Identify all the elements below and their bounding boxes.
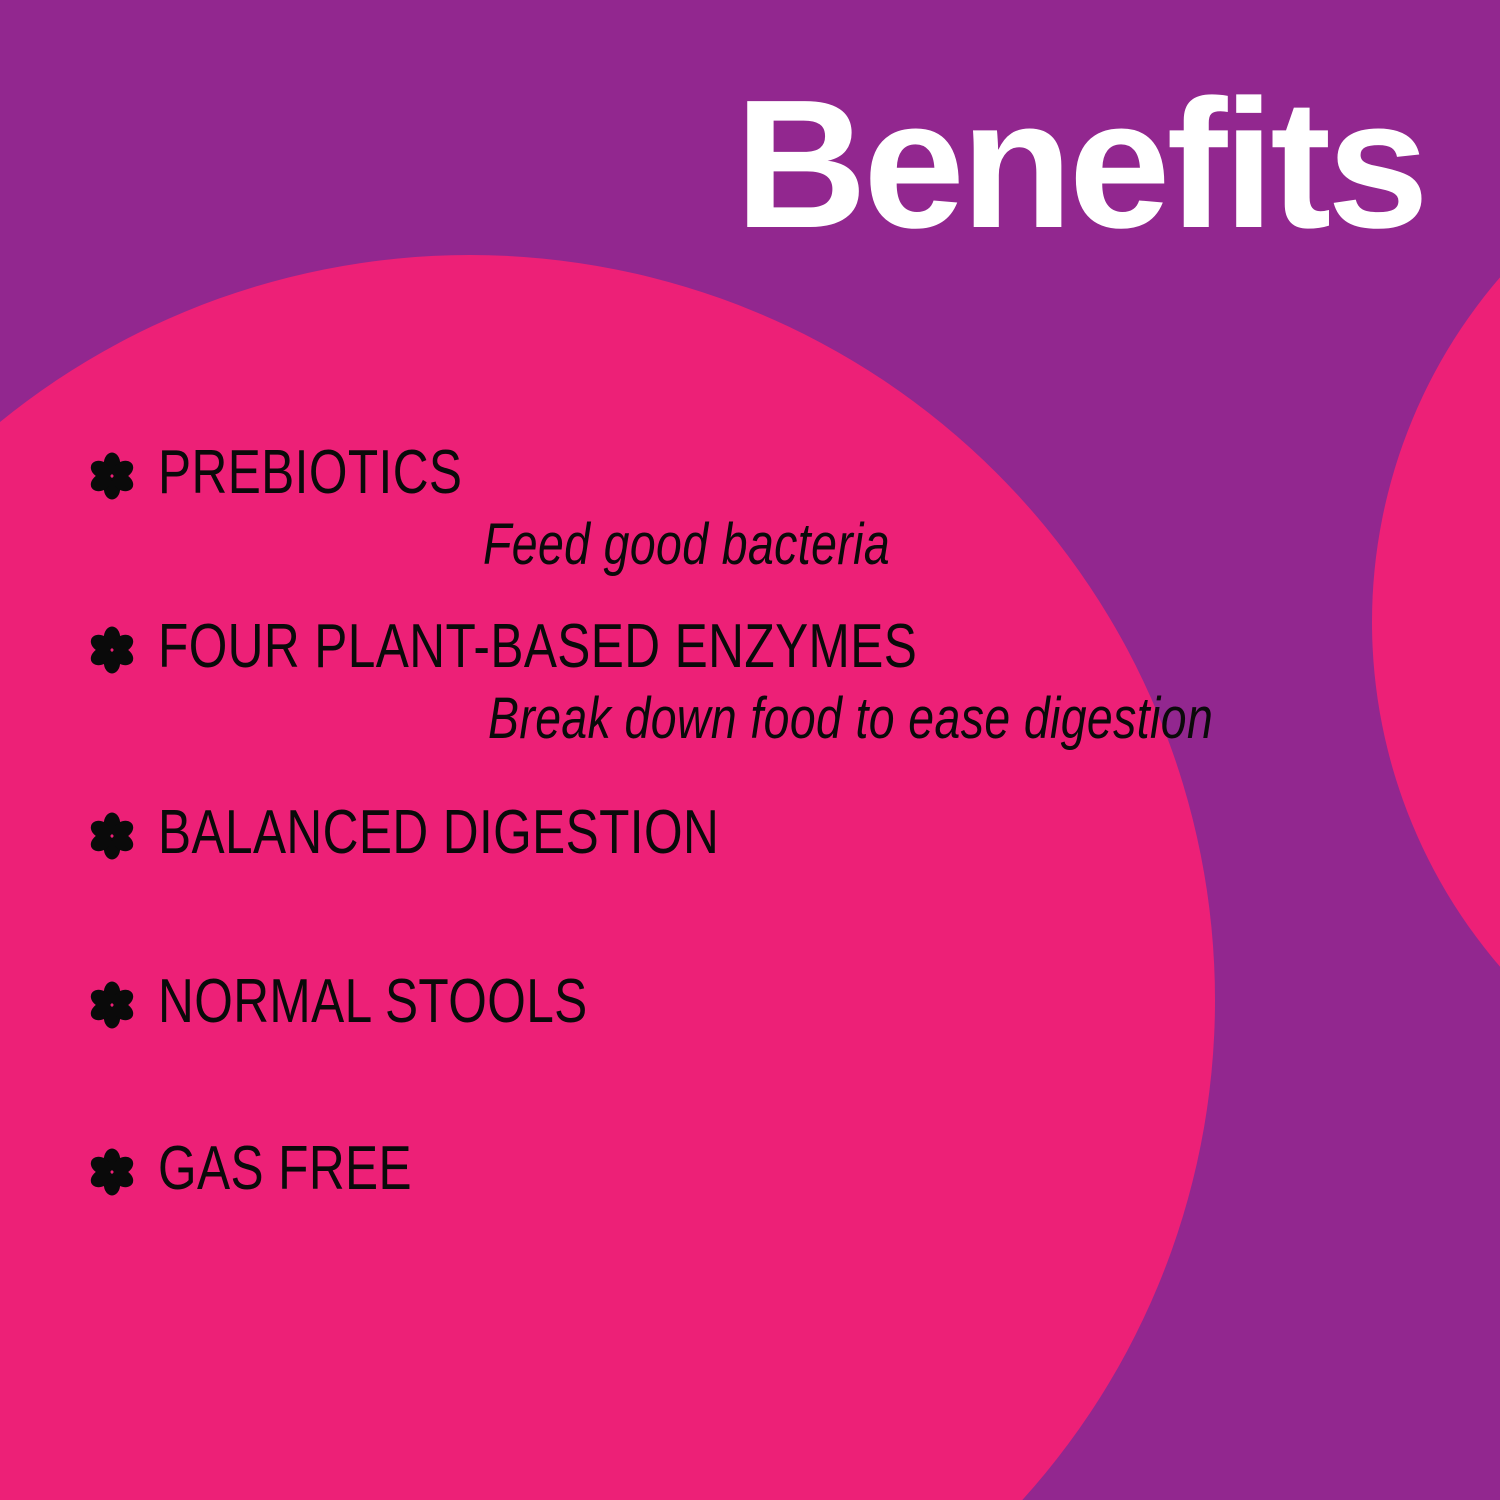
benefit-item: NORMAL STOOLS (88, 969, 1418, 1034)
flower-asterisk-icon (88, 1144, 136, 1200)
page-title: Benefits (0, 72, 1425, 255)
benefit-heading-row: PREBIOTICS (88, 440, 1418, 505)
benefit-heading-row: NORMAL STOOLS (88, 969, 1418, 1034)
benefit-label: PREBIOTICS (158, 440, 462, 505)
benefit-label: BALANCED DIGESTION (158, 800, 719, 865)
benefits-list: PREBIOTICS Feed good bacteria FOUR PLA (88, 440, 1418, 1201)
flower-asterisk-icon (88, 808, 136, 864)
benefit-item: PREBIOTICS Feed good bacteria (88, 440, 1418, 576)
benefit-heading-row: GAS FREE (88, 1136, 1418, 1201)
flower-asterisk-icon (88, 977, 136, 1033)
benefit-item: FOUR PLANT-BASED ENZYMES Break down food… (88, 614, 1418, 750)
benefit-label: NORMAL STOOLS (158, 969, 588, 1034)
benefit-item: BALANCED DIGESTION (88, 800, 1418, 865)
flower-asterisk-icon (88, 622, 136, 678)
benefit-heading-row: BALANCED DIGESTION (88, 800, 1418, 865)
benefit-label: FOUR PLANT-BASED ENZYMES (158, 614, 917, 679)
benefit-subtext: Break down food to ease digestion (488, 689, 1232, 750)
benefits-poster: Benefits PREBIOTICS Feed good bacter (0, 0, 1500, 1500)
benefit-label: GAS FREE (158, 1136, 412, 1201)
benefit-heading-row: FOUR PLANT-BASED ENZYMES (88, 614, 1418, 679)
benefit-subtext: Feed good bacteria (483, 515, 1231, 576)
benefit-item: GAS FREE (88, 1136, 1418, 1201)
flower-asterisk-icon (88, 448, 136, 504)
